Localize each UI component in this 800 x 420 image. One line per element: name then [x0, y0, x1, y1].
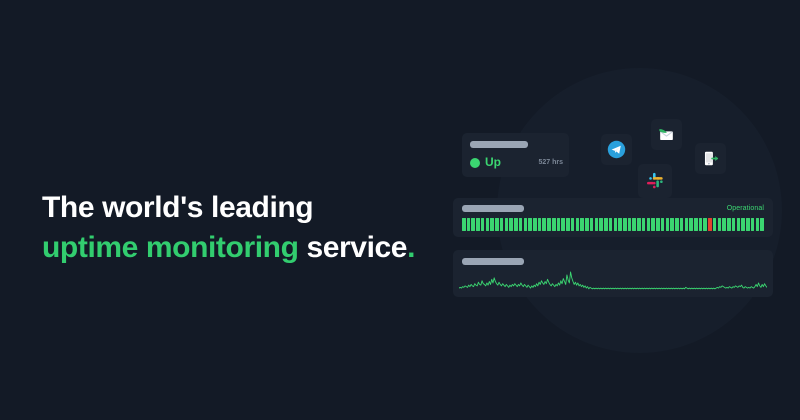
uptime-bar-up[interactable]: [741, 218, 745, 231]
uptime-bar-up[interactable]: [694, 218, 698, 231]
uptime-duration: 527 hrs: [538, 157, 563, 169]
telegram-icon: [607, 140, 626, 159]
monitor-status-card[interactable]: Up 527 hrs: [462, 133, 569, 177]
slack-icon: [645, 171, 665, 191]
uptime-bar-up[interactable]: [580, 218, 584, 231]
uptime-bar-up[interactable]: [718, 218, 722, 231]
uptime-bar-up[interactable]: [689, 218, 693, 231]
integration-email[interactable]: [651, 119, 682, 150]
uptime-history-card[interactable]: Operational: [453, 198, 773, 237]
headline-period: .: [407, 231, 415, 264]
uptime-bar-up[interactable]: [651, 218, 655, 231]
uptime-bar-up[interactable]: [524, 218, 528, 231]
uptime-bar-up[interactable]: [661, 218, 665, 231]
uptime-bar-up[interactable]: [486, 218, 490, 231]
uptime-bar-up[interactable]: [614, 218, 618, 231]
headline-line-2: uptime monitoring service.: [42, 228, 442, 268]
uptime-bar-up[interactable]: [500, 218, 504, 231]
uptime-bar-track[interactable]: [462, 218, 764, 231]
integration-slack[interactable]: [638, 164, 672, 198]
uptime-bar-up[interactable]: [637, 218, 641, 231]
uptime-bar-up[interactable]: [642, 218, 646, 231]
uptime-bar-up[interactable]: [514, 218, 518, 231]
uptime-bar-up[interactable]: [680, 218, 684, 231]
uptime-bar-up[interactable]: [609, 218, 613, 231]
uptime-bar-up[interactable]: [703, 218, 707, 231]
uptime-bar-up[interactable]: [571, 218, 575, 231]
uptime-bar-up[interactable]: [746, 218, 750, 231]
uptime-bar-up[interactable]: [585, 218, 589, 231]
status-dot-up-icon: [470, 158, 480, 168]
uptime-bar-up[interactable]: [476, 218, 480, 231]
uptime-bar-up[interactable]: [538, 218, 542, 231]
integration-telegram[interactable]: [601, 134, 632, 165]
uptime-bar-up[interactable]: [751, 218, 755, 231]
uptime-bar-up[interactable]: [519, 218, 523, 231]
uptime-bar-up[interactable]: [604, 218, 608, 231]
uptime-bar-up[interactable]: [462, 218, 466, 231]
uptime-bar-up[interactable]: [471, 218, 475, 231]
uptime-bar-up[interactable]: [533, 218, 537, 231]
response-time-card[interactable]: [453, 250, 773, 297]
uptime-bar-up[interactable]: [699, 218, 703, 231]
uptime-bar-up[interactable]: [656, 218, 660, 231]
title-placeholder-bar: [470, 141, 528, 148]
title-placeholder-bar: [462, 258, 524, 265]
integration-mobile-push[interactable]: [695, 143, 726, 174]
uptime-bar-up[interactable]: [481, 218, 485, 231]
uptime-bar-up[interactable]: [495, 218, 499, 231]
uptime-bar-up[interactable]: [509, 218, 513, 231]
uptime-bar-up[interactable]: [505, 218, 509, 231]
headline-rest: service: [299, 231, 408, 264]
uptime-bar-up[interactable]: [713, 218, 717, 231]
response-time-sparkline: [459, 268, 767, 294]
uptime-bar-up[interactable]: [727, 218, 731, 231]
operational-label: Operational: [727, 204, 764, 213]
status-badge: Up: [485, 155, 501, 170]
uptime-bar-up[interactable]: [547, 218, 551, 231]
headline-accent: uptime monitoring: [42, 231, 299, 264]
uptime-bar-up[interactable]: [490, 218, 494, 231]
uptime-bar-up[interactable]: [467, 218, 471, 231]
uptime-bar-up[interactable]: [561, 218, 565, 231]
uptime-bar-up[interactable]: [760, 218, 764, 231]
uptime-bar-up[interactable]: [737, 218, 741, 231]
uptime-bar-up[interactable]: [722, 218, 726, 231]
page-title: The world's leading uptime monitoring se…: [42, 188, 442, 268]
mobile-push-icon: [701, 149, 720, 168]
uptime-bar-up[interactable]: [576, 218, 580, 231]
uptime-bar-up[interactable]: [528, 218, 532, 231]
uptime-bar-up[interactable]: [566, 218, 570, 231]
uptime-bar-up[interactable]: [675, 218, 679, 231]
uptime-bar-up[interactable]: [670, 218, 674, 231]
uptime-bar-up[interactable]: [590, 218, 594, 231]
uptime-bar-up[interactable]: [685, 218, 689, 231]
uptime-bar-up[interactable]: [632, 218, 636, 231]
uptime-bar-up[interactable]: [557, 218, 561, 231]
uptime-bar-up[interactable]: [628, 218, 632, 231]
uptime-bar-up[interactable]: [666, 218, 670, 231]
uptime-bar-up[interactable]: [595, 218, 599, 231]
uptime-bar-up[interactable]: [552, 218, 556, 231]
uptime-bar-up[interactable]: [756, 218, 760, 231]
uptime-bar-up[interactable]: [542, 218, 546, 231]
headline-line-1: The world's leading: [42, 188, 442, 228]
uptime-bar-up[interactable]: [599, 218, 603, 231]
title-placeholder-bar: [462, 205, 524, 212]
uptime-bar-down[interactable]: [708, 218, 712, 231]
uptime-bar-up[interactable]: [618, 218, 622, 231]
envelope-icon: [657, 125, 676, 144]
status-row: Up 527 hrs: [470, 155, 563, 171]
uptime-bar-up[interactable]: [732, 218, 736, 231]
hero-banner: The world's leading uptime monitoring se…: [0, 0, 800, 420]
uptime-bar-up[interactable]: [623, 218, 627, 231]
uptime-bar-up[interactable]: [647, 218, 651, 231]
